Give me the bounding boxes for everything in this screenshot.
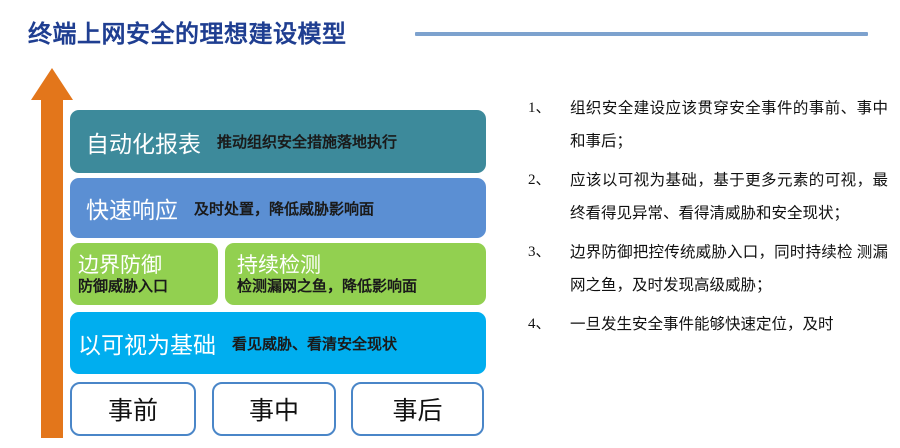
phase-box-after[interactable]: 事后 (351, 382, 484, 436)
layer-visibility-desc: 看见威胁、看清安全现状 (232, 333, 397, 354)
layer-response-title: 快速响应 (86, 191, 178, 225)
list-item: 4、 一旦发生安全事件能够快速定位，及时 (528, 308, 888, 341)
note-number: 2、 (528, 164, 570, 197)
layer-report-title: 自动化报表 (86, 125, 201, 159)
note-number: 3、 (528, 236, 570, 269)
layer-bar-response[interactable]: 快速响应 及时处置，降低威胁影响面 (70, 178, 486, 238)
maturity-pyramid-diagram: 自动化报表 推动组织安全措施落地执行 快速响应 及时处置，降低威胁影响面 边界防… (0, 0, 510, 448)
up-arrow-icon (30, 66, 74, 438)
layer-row-defense-detection: 边界防御 防御威胁入口 持续检测 检测漏网之鱼，降低影响面 (70, 243, 486, 305)
layer-bar-visibility[interactable]: 以可视为基础 看见威胁、看清安全现状 (70, 312, 486, 374)
layer-defense-title: 边界防御 (78, 254, 218, 276)
layer-detection-title: 持续检测 (237, 254, 486, 276)
phase-box-during[interactable]: 事中 (212, 382, 336, 436)
note-text: 应该以可视为基础，基于更多元素的可视，最终看得见异常、看得清威胁和安全现状； (570, 164, 888, 230)
note-text: 组织安全建设应该贯穿安全事件的事前、事中和事后； (570, 92, 888, 158)
phase-box-before[interactable]: 事前 (70, 382, 196, 436)
layer-response-desc: 及时处置，降低威胁影响面 (194, 198, 374, 219)
layer-defense-desc: 防御威胁入口 (78, 278, 218, 295)
note-text: 一旦发生安全事件能够快速定位，及时 (570, 308, 888, 341)
list-item: 2、 应该以可视为基础，基于更多元素的可视，最终看得见异常、看得清威胁和安全现状… (528, 164, 888, 230)
layer-box-defense[interactable]: 边界防御 防御威胁入口 (70, 243, 218, 305)
note-number: 1、 (528, 92, 570, 125)
list-item: 3、 边界防御把控传统威胁入口，同时持续检 测漏网之鱼，及时发现高级威胁； (528, 236, 888, 302)
list-item: 1、 组织安全建设应该贯穿安全事件的事前、事中和事后； (528, 92, 888, 158)
layer-bar-report[interactable]: 自动化报表 推动组织安全措施落地执行 (70, 110, 486, 173)
layer-detection-desc: 检测漏网之鱼，降低影响面 (237, 278, 486, 295)
layer-report-desc: 推动组织安全措施落地执行 (217, 131, 397, 152)
layer-visibility-title: 以可视为基础 (78, 326, 216, 360)
layer-box-detection[interactable]: 持续检测 检测漏网之鱼，降低影响面 (225, 243, 486, 305)
note-text: 边界防御把控传统威胁入口，同时持续检 测漏网之鱼，及时发现高级威胁； (570, 236, 888, 302)
notes-list: 1、 组织安全建设应该贯穿安全事件的事前、事中和事后； 2、 应该以可视为基础，… (528, 92, 888, 347)
note-number: 4、 (528, 308, 570, 341)
